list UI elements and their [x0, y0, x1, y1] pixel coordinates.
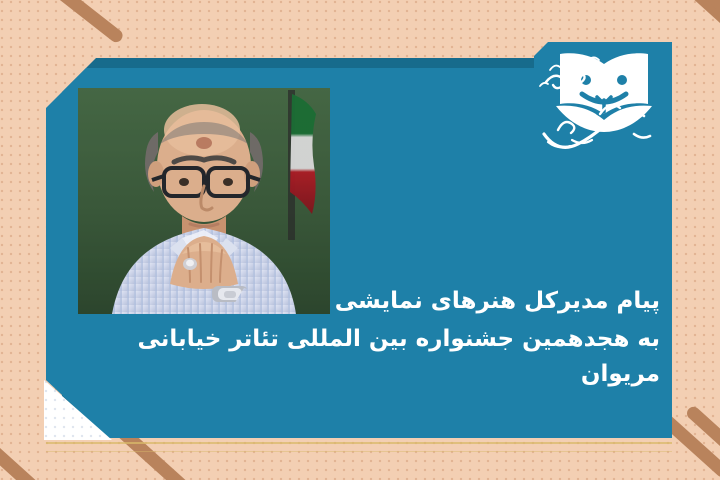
headline-line-1: پیام مدیرکل هنرهای نمایشی [60, 284, 660, 320]
portrait-photo [78, 88, 330, 314]
poster-canvas: وزارت فرهنگ و ارشاد اسلامی اداره کل هنره… [0, 0, 720, 480]
open-book-icon [556, 53, 652, 132]
headline-block: پیام مدیرکل هنرهای نمایشی به هجدهمین جشن… [60, 284, 660, 393]
headline-line-2: به هجدهمین جشنواره بین المللی تئاتر خیاب… [60, 322, 660, 393]
forehead-mark [196, 137, 212, 149]
decor-stripe-top-left [7, 0, 125, 45]
decor-stripe-top-right [627, 0, 720, 40]
gold-rule [46, 442, 672, 444]
ministry-logo [534, 42, 672, 158]
portrait-illustration [78, 88, 330, 314]
organization-logo-plate[interactable]: وزارت فرهنگ و ارشاد اسلامی اداره کل هنره… [534, 42, 672, 158]
logo-eye-right [617, 75, 627, 85]
gold-rule-2 [46, 451, 672, 452]
